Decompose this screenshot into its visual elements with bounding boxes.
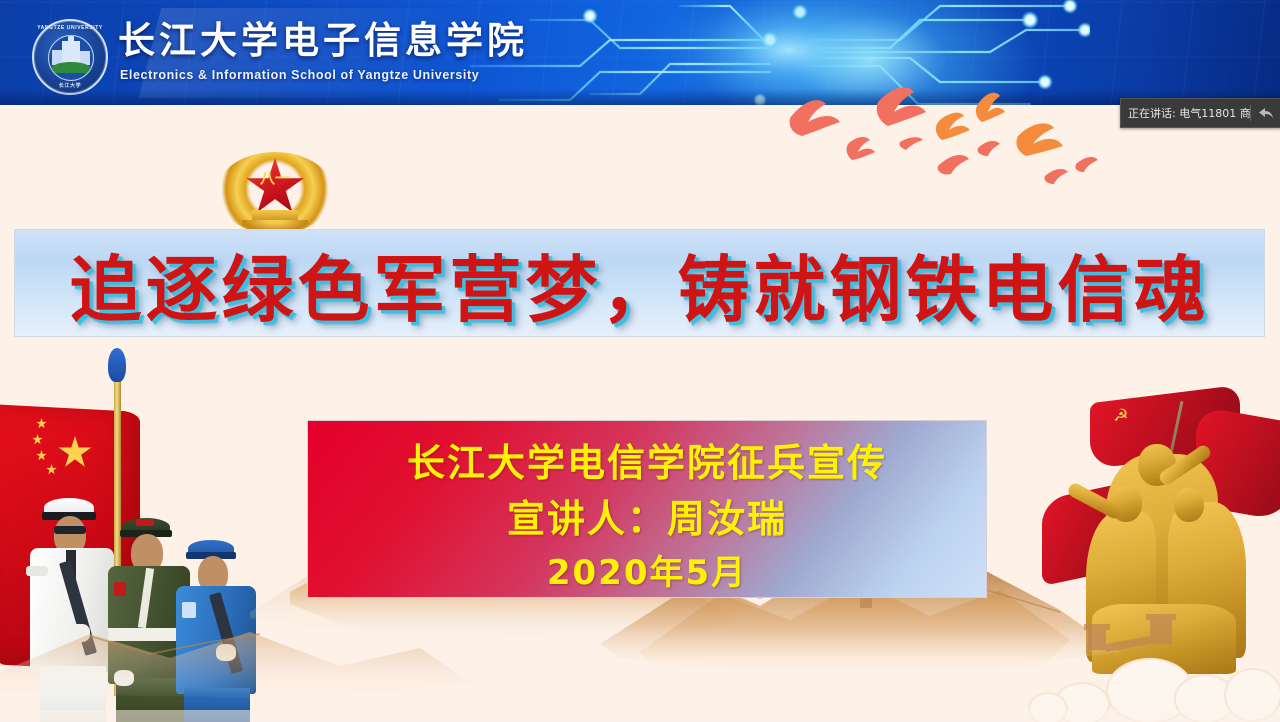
crest-text-bottom: 长江大学 bbox=[34, 82, 106, 89]
hammer-sickle-icon: ☭ bbox=[1110, 406, 1132, 426]
subtitle-line-2: 宣讲人：周汝瑞 bbox=[308, 500, 986, 538]
speaking-notification-text: 正在讲话: 电气11801 商祎 bbox=[1121, 105, 1250, 121]
flag-finial bbox=[108, 348, 126, 382]
pla-emblem-icon: 八一 bbox=[216, 144, 334, 236]
university-crest-icon: YANGTZE UNIVERSITY 长江大学 bbox=[26, 19, 110, 93]
presentation-slide: YANGTZE UNIVERSITY 长江大学 长江大学电子信息学院 Elect… bbox=[0, 0, 1280, 722]
subtitle-line-1: 长江大学电信学院征兵宣传 bbox=[308, 444, 986, 482]
subtitle-line-3: 2020年5月 bbox=[308, 556, 986, 590]
header-title-cn: 长江大学电子信息学院 bbox=[118, 22, 528, 59]
header-title-en: Electronics & Information School of Yang… bbox=[120, 68, 479, 82]
slide-title-band: 追逐绿色军营梦，铸就钢铁电信魂 bbox=[14, 229, 1265, 337]
crest-text-top: YANGTZE UNIVERSITY bbox=[34, 25, 106, 31]
flying-doves-icon bbox=[760, 78, 1120, 188]
slide-title-text: 追逐绿色军营梦，铸就钢铁电信魂 bbox=[15, 230, 1264, 336]
speaking-notification-bar[interactable]: 正在讲话: 电气11801 商祎 bbox=[1120, 98, 1280, 128]
emblem-star-text: 八一 bbox=[256, 171, 294, 186]
subtitle-box: 长江大学电信学院征兵宣传 宣讲人：周汝瑞 2020年5月 bbox=[307, 420, 987, 598]
reply-arrow-icon[interactable] bbox=[1251, 100, 1280, 126]
